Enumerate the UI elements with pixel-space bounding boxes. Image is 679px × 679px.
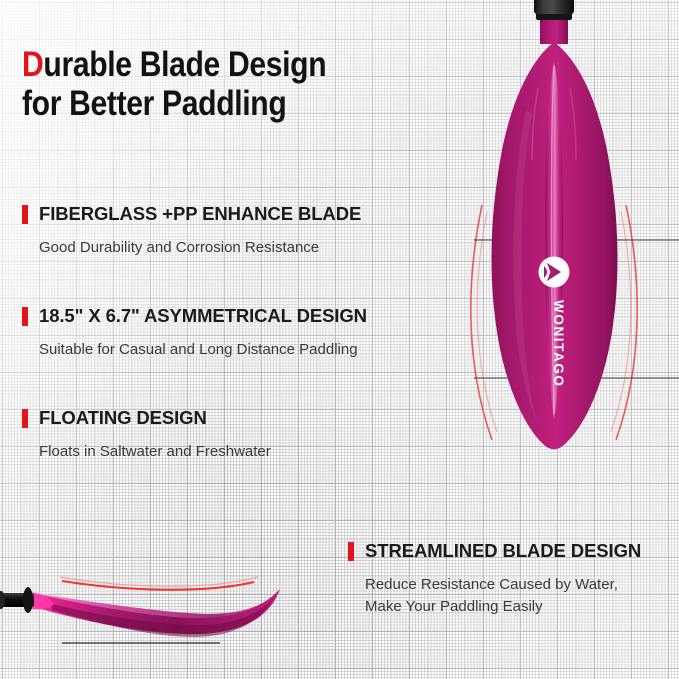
shaft-collar-side	[23, 587, 33, 613]
feature-title-row: FLOATING DESIGN	[22, 407, 442, 428]
feature-subtitle-line: Reduce Resistance Caused by Water,	[365, 574, 678, 595]
red-accent-bar-icon	[22, 307, 28, 326]
red-accent-bar-icon	[348, 542, 354, 561]
streamline-red-arc	[62, 581, 254, 590]
ferrule-collar	[534, 0, 574, 14]
feature-subtitle-line: Floats in Saltwater and Freshwater	[39, 441, 442, 462]
page-title: Durable Blade Designfor Better Paddling	[22, 46, 366, 123]
feature-subtitle: Good Durability and Corrosion Resistance	[39, 237, 442, 258]
feature-subtitle: Reduce Resistance Caused by Water, Make …	[365, 574, 678, 617]
red-accent-bar-icon	[22, 205, 28, 224]
feature-subtitle: Floats in Saltwater and Freshwater	[39, 441, 442, 462]
brand-logo	[539, 257, 570, 288]
feature-title-row: 18.5" X 6.7" ASYMMETRICAL DESIGN	[22, 305, 442, 326]
feature-title: FIBERGLASS +PP ENHANCE BLADE	[39, 203, 361, 224]
feature-title-row: FIBERGLASS +PP ENHANCE BLADE	[22, 203, 442, 224]
headline-line-2: for Better Paddling	[22, 84, 286, 123]
product-infographic: Durable Blade Designfor Better Paddling …	[0, 0, 679, 679]
feature-title-row: STREAMLINED BLADE DESIGN	[348, 540, 678, 561]
feature-subtitle-line: Suitable for Casual and Long Distance Pa…	[39, 339, 442, 360]
paddle-blade-side-view	[0, 548, 332, 668]
feature-floating: FLOATING DESIGN Floats in Saltwater and …	[22, 407, 442, 463]
headline-line-1: urable Blade Design	[43, 45, 326, 84]
headline-drop-cap: D	[22, 45, 43, 84]
feature-subtitle-line: Good Durability and Corrosion Resistance	[39, 237, 442, 258]
feature-title: STREAMLINED BLADE DESIGN	[365, 540, 641, 561]
feature-asymmetrical: 18.5" X 6.7" ASYMMETRICAL DESIGN Suitabl…	[22, 305, 442, 361]
red-accent-bar-icon	[22, 409, 28, 428]
paddle-blade-front-view: WONITAGO	[430, 0, 679, 500]
feature-subtitle: Suitable for Casual and Long Distance Pa…	[39, 339, 442, 360]
brand-name: WONITAGO	[551, 300, 566, 388]
feature-title: 18.5" X 6.7" ASYMMETRICAL DESIGN	[39, 305, 367, 326]
feature-streamlined: STREAMLINED BLADE DESIGN Reduce Resistan…	[348, 540, 678, 617]
feature-title: FLOATING DESIGN	[39, 407, 207, 428]
blade-neck	[540, 16, 568, 44]
feature-fiberglass: FIBERGLASS +PP ENHANCE BLADE Good Durabi…	[22, 203, 442, 259]
feature-subtitle-line: Make Your Paddling Easily	[365, 596, 678, 617]
